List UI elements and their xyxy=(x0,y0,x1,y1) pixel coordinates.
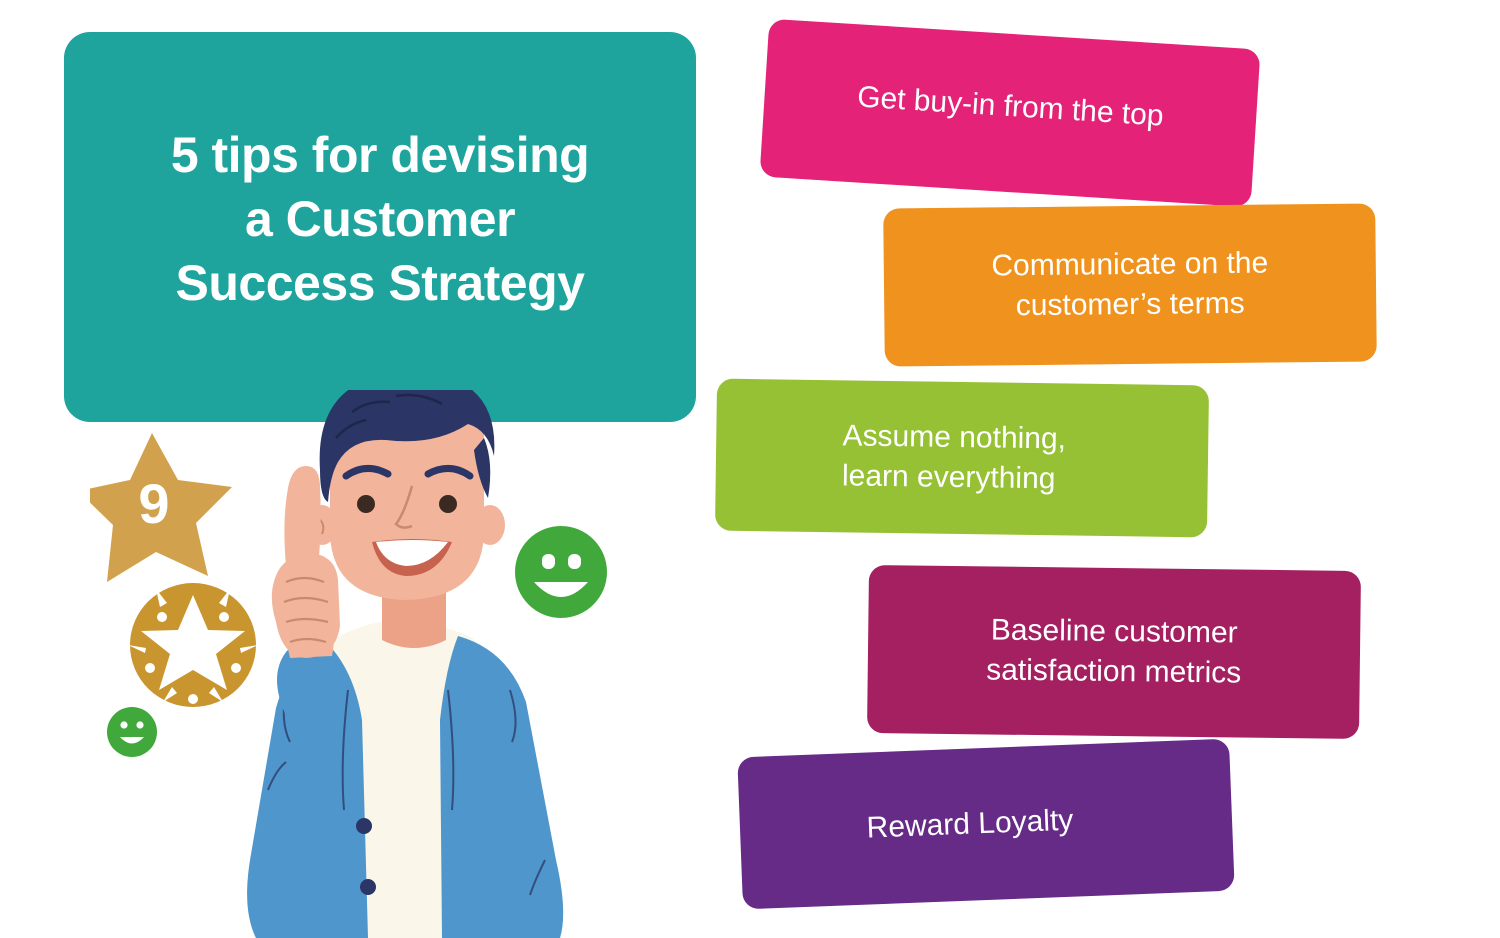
infographic-canvas: 5 tips for devising a Customer Success S… xyxy=(0,0,1500,938)
jacket-button-top xyxy=(356,818,372,834)
left-eye xyxy=(357,495,375,513)
green-smiley-large-icon xyxy=(515,526,607,618)
star-badge-number: 9 xyxy=(138,472,169,535)
tip-bar-3: Assume nothing, learn everything xyxy=(715,379,1209,538)
gold-medal-star-icon xyxy=(128,583,258,707)
title-card: 5 tips for devising a Customer Success S… xyxy=(64,32,696,422)
tip-label-5: Reward Loyalty xyxy=(866,801,1074,849)
tip-bar-5: Reward Loyalty xyxy=(737,739,1234,910)
tip-label-3: Assume nothing, learn everything xyxy=(842,416,1067,499)
tip-label-4: Baseline customer satisfaction metrics xyxy=(986,611,1242,694)
tip-bar-1: Get buy-in from the top xyxy=(760,19,1261,208)
tip-label-2: Communicate on the customer’s terms xyxy=(991,244,1269,327)
green-smiley-small-icon xyxy=(107,707,157,757)
tip-bar-4: Baseline customer satisfaction metrics xyxy=(867,565,1361,739)
page-title: 5 tips for devising a Customer Success S… xyxy=(171,123,589,315)
tip-bar-2: Communicate on the customer’s terms xyxy=(883,203,1377,366)
right-eye xyxy=(439,495,457,513)
character-head xyxy=(307,390,505,600)
gold-star-badge-icon: 9 xyxy=(90,433,232,582)
man-pointing-up-illustration: 9 xyxy=(90,390,690,938)
tip-label-1: Get buy-in from the top xyxy=(856,77,1165,136)
jacket-button-bottom xyxy=(360,879,376,895)
